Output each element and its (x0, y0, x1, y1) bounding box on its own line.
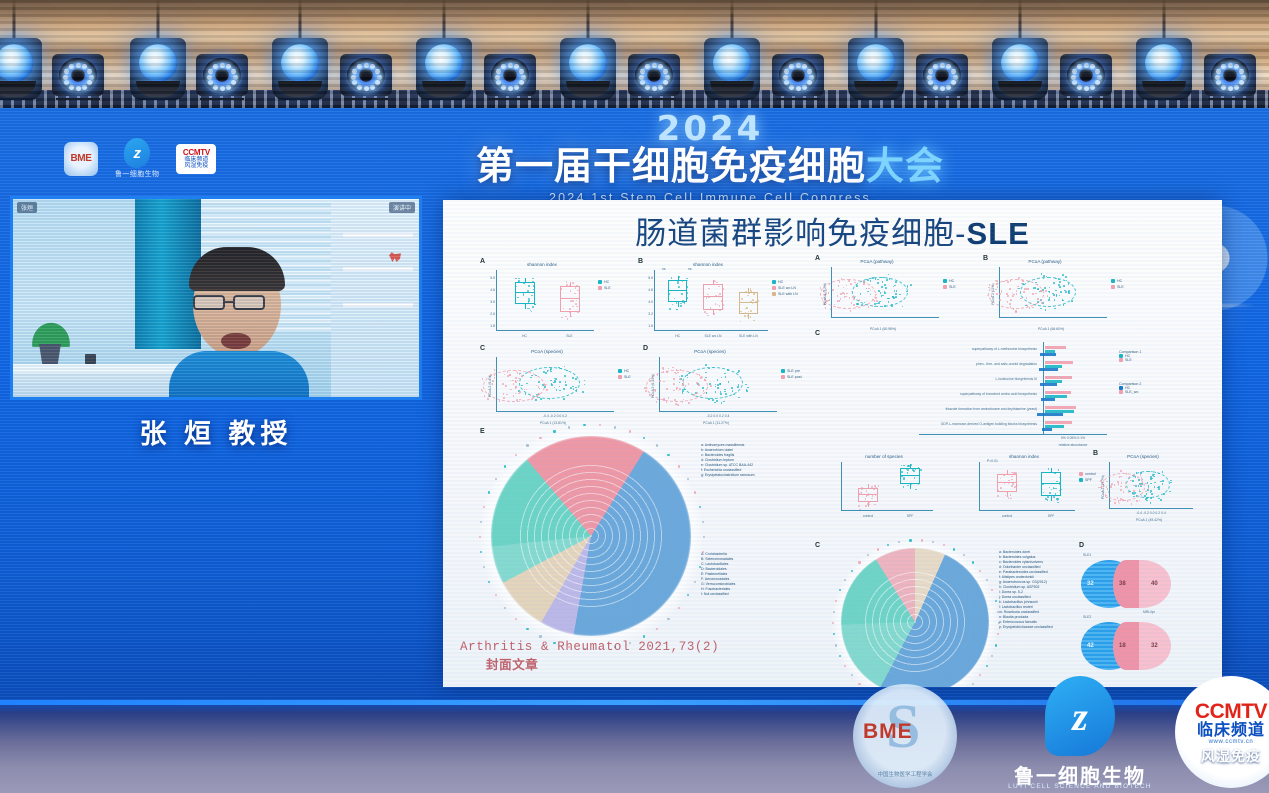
par-led-ring (1211, 58, 1249, 92)
scatter-point-RB (1015, 310, 1017, 312)
scatter-point-RB (1071, 300, 1073, 302)
xticks-C: -0.4 -0.2 0.0 0.2 (496, 414, 614, 418)
scatter-point-RB (1040, 308, 1042, 310)
jitter-point-B (708, 297, 710, 299)
scatter-point-D (710, 385, 712, 387)
cladogram-tip-marker-E (687, 478, 689, 480)
jitter-point-B (678, 286, 680, 288)
jitter-point-B (745, 312, 747, 314)
scatter-point-C (484, 395, 486, 397)
cladogram-tip-marker-E (656, 628, 658, 630)
light-hanging-pole (1019, 0, 1022, 38)
cladogram-tip-marker-E (687, 594, 689, 596)
pathway-bar (1040, 353, 1055, 356)
jitter-point-A (566, 281, 568, 283)
moving-head-lens (1145, 44, 1183, 82)
bme-wordmark: BME (863, 720, 913, 744)
venn-count-right: 32 (1151, 643, 1158, 649)
par-can-body (1060, 54, 1112, 96)
xtick-B-1: SLE wo LN (700, 334, 726, 338)
jitter-point-B (707, 315, 709, 317)
jitter-point-A (567, 318, 569, 320)
xtick-M1-0: control (855, 514, 881, 518)
scatter-point-D (746, 390, 748, 392)
pathway-label: L-isoleucine biosynthesis III (815, 378, 1037, 382)
species-legend-mc: a: Bacteroides doreib: Bacteroides vulga… (999, 550, 1053, 630)
jitter-point-B (671, 277, 673, 279)
jitter-point-B (686, 292, 688, 294)
xtick-M1-1: SPF (897, 514, 923, 518)
par-can-body (772, 54, 824, 96)
panel-label-MC: C (815, 542, 820, 549)
ylabel-RA: PCoA 2 (9.2%) (823, 274, 827, 314)
par-can-body (484, 54, 536, 96)
cladogram-tip-marker-MC (858, 561, 860, 563)
par-led-ring (491, 58, 529, 92)
stage-par-light (484, 52, 536, 100)
panel-label-D: D (643, 345, 648, 352)
moving-head-mouth (566, 81, 610, 97)
jitter-point-M1 (868, 504, 870, 506)
slide-title-sle: SLE (967, 216, 1030, 251)
jitter-point-M2 (1005, 474, 1007, 476)
scatter-point-D (656, 401, 658, 403)
jitter-point-M1 (907, 485, 909, 487)
video-status-tag: 演讲中 (389, 202, 415, 213)
jitter-point-B (669, 308, 671, 310)
scatter-point-RA (868, 306, 870, 308)
header-logo-luyi: z 鲁一细胞生物 (115, 138, 159, 179)
venn-left-label: SLE1 (1083, 553, 1091, 557)
jitter-point-A (528, 301, 530, 303)
light-hanging-pole (1163, 0, 1166, 38)
event-title-cn: 第一届干细胞免疫细胞大会 (430, 148, 990, 188)
jitter-point-M1 (861, 489, 863, 491)
legend-M2-1: SPF (1079, 478, 1092, 482)
cladogram-tip-marker-MC (997, 633, 999, 635)
xticks-RC: 0% 0.05% 0.1% (1013, 436, 1133, 440)
jitter-point-A (569, 308, 571, 310)
venn-count-left: 32 (1087, 581, 1094, 587)
jitter-point-B (672, 304, 674, 306)
jitter-point-M1 (858, 505, 860, 507)
light-hanging-pole (157, 0, 160, 38)
jitter-point-A (531, 311, 533, 313)
panel-label-RB: B (983, 255, 988, 262)
xlabel-D: PCoA 1 (11.27%) (653, 421, 779, 425)
whisker-up-M2-1 (1051, 468, 1052, 472)
jitter-point-M2 (1008, 482, 1010, 484)
par-can-body (916, 54, 968, 96)
scatter-point-C (584, 380, 586, 382)
scatter-point-RB (1065, 276, 1067, 278)
jitter-point-M1 (903, 477, 905, 479)
venn-left-label: SLE2 (1083, 615, 1091, 619)
bme-caption: 中国生物医学工程学会 (853, 770, 957, 778)
pathway-label: superpathway of L-methionine biosynthesi… (815, 348, 1037, 352)
ylabel-MB: PCoA 2 (17.7%) (1101, 467, 1105, 507)
axis-y-A (496, 270, 497, 330)
moving-head-body (0, 38, 42, 100)
legend-B-2: SLE with LN (772, 292, 798, 296)
jitter-point-M2 (1014, 486, 1016, 488)
scatter-point-D (738, 370, 740, 372)
jitter-point-M1 (916, 475, 918, 477)
par-can-body (1204, 54, 1256, 96)
whisker-up-M2-0 (1007, 470, 1008, 474)
moving-head-lens (425, 44, 463, 82)
footer-logo-row: S BME 中国生物医学工程学会 z 鲁一细胞生物 LUYI CELL SCIE… (845, 668, 1269, 793)
scatter-point-RB (1045, 290, 1047, 292)
jitter-point-B (681, 293, 683, 295)
jitter-point-B (715, 295, 717, 297)
par-yoke (488, 91, 532, 100)
cladogram-tip-marker-E (526, 444, 528, 446)
legend-item: SLE (1119, 358, 1141, 362)
scatter-point-RB (1041, 273, 1043, 275)
cladogram-tip-marker-MC (991, 655, 993, 657)
jitter-point-M2 (1000, 487, 1002, 489)
scatter-point-D (705, 364, 707, 366)
species-legend-item: p: Erysipelotrichaceae unclassified (999, 625, 1053, 630)
jitter-point-M2 (1008, 480, 1010, 482)
whisker-dn-A-0 (525, 304, 526, 309)
cladogram-tip-marker-MC (986, 579, 988, 581)
jitter-point-M1 (875, 487, 877, 489)
scatter-point-C (563, 398, 565, 400)
xticks-D: -0.2 0.0 0.2 0.4 (659, 414, 777, 418)
legend-D-1: SLE post (781, 375, 802, 379)
scatter-point-MB (1098, 487, 1100, 489)
moving-head-mouth (1142, 81, 1186, 97)
scatter-point-C (482, 390, 484, 392)
pathway-label: phen...thre- and salic-uronid degradatio… (815, 363, 1037, 367)
par-can-body (628, 54, 680, 96)
jitter-point-B (744, 315, 746, 317)
scatter-point-D (666, 401, 668, 403)
legend-A-1: SLE (598, 286, 611, 290)
jitter-point-M1 (911, 484, 913, 486)
cladogram-tip-marker-MC (972, 561, 974, 563)
par-can-body (196, 54, 248, 96)
jitter-point-M1 (903, 486, 905, 488)
jitter-point-A (572, 300, 574, 302)
scatter-point-D (712, 399, 714, 401)
video-background: 张烜 演讲中 (13, 199, 419, 397)
jitter-point-A (570, 316, 572, 318)
luyi-drop-icon: z (124, 138, 150, 168)
scatter-point-D (672, 367, 674, 369)
ccmtv-brand-mini: CCMTV (183, 149, 210, 157)
legend-RB-1: SLE (1111, 285, 1124, 289)
jitter-point-A (575, 303, 577, 305)
jitter-point-M1 (903, 465, 905, 467)
header-logo-ccmtv: CCMTV 临床频道 风湿免疫 (176, 144, 216, 174)
bme-icon: BME (64, 142, 98, 176)
jitter-point-A (574, 293, 576, 295)
boxplot-A-0 (515, 282, 535, 304)
jitter-point-A (532, 306, 534, 308)
panel-title-RB: PCoA (pathway) (991, 259, 1099, 264)
jitter-point-M1 (866, 495, 868, 497)
scatter-point-C (582, 391, 584, 393)
scatter-point-D (747, 387, 749, 389)
axis-x-M1 (841, 510, 933, 511)
moving-head-lens (713, 44, 751, 82)
header-logo-luyi-caption: 鲁一细胞生物 (115, 169, 159, 179)
jitter-point-M1 (913, 470, 915, 472)
luyi-droplet-icon: z (1045, 676, 1115, 756)
jitter-point-M1 (861, 493, 863, 495)
scatter-point-C (564, 366, 566, 368)
legend-M2-0: control (1079, 472, 1096, 476)
whisker-up-B-2 (748, 288, 749, 292)
cladogram-tip-marker-E (694, 491, 696, 493)
ytick-A: 5.54.63.62.61.8 (479, 272, 495, 332)
legend-C-1: SLE (618, 375, 631, 379)
jitter-point-B (686, 297, 688, 299)
scatter-point-MB (1139, 500, 1141, 502)
stage-par-light (1060, 52, 1112, 100)
par-yoke (1064, 91, 1108, 100)
jitter-point-A (518, 280, 520, 282)
jitter-point-M1 (903, 468, 905, 470)
panel-label-A: A (480, 258, 485, 265)
ellipse-C-1 (483, 370, 544, 402)
par-led-dots (628, 52, 680, 100)
jitter-point-B (753, 320, 755, 322)
par-yoke (56, 91, 100, 100)
scatter-point-D (716, 400, 718, 402)
jitter-point-A (528, 285, 530, 287)
venn-count-right: 40 (1151, 581, 1158, 587)
stage-par-light (340, 52, 392, 100)
cladogram-tip-marker-MC (991, 589, 993, 591)
jitter-point-B (740, 321, 742, 323)
jitter-point-M1 (901, 471, 903, 473)
panel-label-E: E (480, 428, 485, 435)
scatter-point-MB (1169, 491, 1171, 493)
stage-moving-head-light (416, 38, 472, 100)
jitter-point-M1 (911, 464, 913, 466)
cladogram-tip-marker-E (539, 437, 541, 439)
jitter-point-A (569, 285, 571, 287)
ellipse-RA-1 (820, 279, 876, 309)
jitter-point-M2 (997, 495, 999, 497)
par-yoke (200, 91, 244, 100)
xtick-B-2: SLE with LN (735, 334, 761, 338)
jitter-point-M2 (1005, 495, 1007, 497)
jitter-point-B (750, 316, 752, 318)
jitter-point-A (576, 306, 578, 308)
event-title-accent: 大会 (866, 146, 944, 188)
jitter-point-M1 (873, 488, 875, 490)
xtick-M2-0: control (994, 514, 1020, 518)
jitter-point-A (523, 282, 525, 284)
median-M2-1 (1041, 483, 1061, 484)
footer-logo-bme: S BME 中国生物医学工程学会 (853, 684, 957, 788)
par-yoke (776, 91, 820, 100)
moving-head-mouth (710, 81, 754, 97)
lighting-truss (0, 90, 1269, 108)
jitter-point-M2 (1047, 496, 1049, 498)
jitter-point-B (680, 305, 682, 307)
venn-overlap (1113, 622, 1139, 670)
jitter-point-M2 (1058, 469, 1060, 471)
jitter-point-B (750, 310, 752, 312)
scatter-point-MB (1140, 497, 1142, 499)
jitter-point-A (561, 317, 563, 319)
jitter-point-A (566, 284, 568, 286)
panel-title-M2: shannon index (969, 454, 1079, 459)
panel-label-B: B (638, 258, 643, 265)
cladogram-tip-marker-MC (851, 570, 853, 572)
legend-D-0: SLE pre (781, 369, 800, 373)
scatter-point-RB (1045, 309, 1047, 311)
header-logo-bme: BME (64, 142, 98, 176)
scatter-point-MB (1170, 480, 1172, 482)
par-yoke (344, 91, 388, 100)
light-hanging-pole (443, 0, 446, 38)
panel-title-M1: number of species (831, 454, 937, 459)
luyi-name-en: LUYI CELL SCIENCE AND BIOTECH (995, 783, 1165, 790)
ellipse-D-1 (646, 370, 707, 402)
video-scanline-overlay (13, 199, 419, 397)
cladogram-tip-marker-E (656, 444, 658, 446)
pathway-label: superpathway of branched amino acid bios… (815, 393, 1037, 397)
cladogram-tip-marker-E (702, 521, 704, 523)
panel-title-D: PCoA (species) (651, 349, 769, 354)
venn-count-center: 38 (1119, 581, 1126, 587)
par-led-dots (1204, 52, 1256, 100)
scatter-point-RA (875, 297, 877, 299)
jitter-point-M1 (907, 465, 909, 467)
panel-label-RC: C (815, 330, 820, 337)
species-legend-top: a: Actinomyces massiliensisb: Anaerobium… (701, 443, 755, 478)
moving-head-lens (569, 44, 607, 82)
scatter-point-D (721, 402, 723, 404)
moving-head-body (704, 38, 760, 100)
par-led-dots (1060, 52, 1112, 100)
ylabel-D: PCoA 2 (6.33%) (651, 366, 655, 406)
light-hanging-pole (299, 0, 302, 38)
scatter-point-D (745, 384, 747, 386)
stage-moving-head-light (1136, 38, 1192, 100)
stage-par-light (52, 52, 104, 100)
jitter-point-M1 (907, 469, 909, 471)
legend-RA-1: SLE (943, 285, 956, 289)
cladogram-MC (841, 548, 989, 687)
pathway-bar (1039, 368, 1058, 371)
jitter-point-A (577, 311, 579, 313)
jitter-point-M2 (1048, 468, 1050, 470)
xlabel-RC: relative abundance (1003, 443, 1143, 447)
par-led-ring (347, 58, 385, 92)
venn-overlap (1113, 560, 1139, 608)
cladogram-tip-marker-E (629, 430, 631, 432)
jitter-point-M1 (872, 495, 874, 497)
jitter-point-M2 (1057, 502, 1059, 504)
scatter-point-MB (1150, 502, 1152, 504)
presentation-slide: 肠道菌群影响免疫细胞-SLE Ashannon indexHCSLEHCSLE5… (443, 200, 1222, 687)
xtick-A-1: SLE (557, 334, 583, 338)
moving-head-mouth (278, 81, 322, 97)
par-can-body (52, 54, 104, 96)
jitter-point-M1 (868, 501, 870, 503)
scatter-point-C (482, 378, 484, 380)
jitter-point-M1 (878, 485, 880, 487)
axis-y-M2 (979, 462, 980, 510)
whisker-dn-B-0 (678, 302, 679, 307)
jitter-point-A (572, 306, 574, 308)
cladogram-tip-marker-MC (995, 644, 997, 646)
jitter-point-M2 (1010, 494, 1012, 496)
par-led-ring (203, 58, 241, 92)
xlabel-RA: PCoA 1 (60.98%) (825, 327, 941, 331)
legend-item: SLE_wo (1119, 390, 1141, 394)
jitter-point-M2 (1042, 483, 1044, 485)
moving-head-lens (0, 44, 33, 82)
scatter-point-D (668, 368, 670, 370)
stage-moving-head-light (272, 38, 328, 100)
speaker-video-feed[interactable]: 张烜 演讲中 (10, 196, 422, 400)
cladogram-halo (479, 424, 703, 648)
light-hanging-pole (731, 0, 734, 38)
scatter-point-MB (1131, 503, 1133, 505)
scatter-point-C (549, 399, 551, 401)
species-legend-bottom: A: CoriobacteriiaB: SelenomonadalesC: La… (701, 552, 735, 597)
par-led-dots (52, 52, 104, 100)
scatter-point-MB (1110, 500, 1112, 502)
moving-head-mouth (0, 81, 36, 97)
axis-x-RA (831, 317, 939, 318)
cladogram-tip-marker-E (699, 506, 701, 508)
scatter-point-RA (907, 285, 909, 287)
cladogram-tip-marker-E (504, 465, 506, 467)
cladogram-tip-marker-MC (921, 539, 923, 541)
axis-x-A (496, 330, 594, 331)
jitter-point-M2 (1053, 496, 1055, 498)
scatter-point-MB (1146, 500, 1148, 502)
stage-moving-head-light (560, 38, 616, 100)
stage-moving-head-light (704, 38, 760, 100)
axis-x-M2 (979, 510, 1075, 511)
ceiling-backdrop (0, 0, 1269, 108)
xtick-A-0: HC (512, 334, 538, 338)
jitter-point-A (532, 281, 534, 283)
venn-right-label: MRL/lpr (1143, 610, 1155, 614)
ccmtv-department: 风湿免疫 (1201, 749, 1261, 764)
light-hanging-pole (875, 0, 878, 38)
video-name-tag: 张烜 (17, 202, 37, 213)
xticks-MB: -0.4 -0.2 0.0 0.2 0.4 (1109, 511, 1193, 515)
jitter-point-A (527, 290, 529, 292)
jitter-point-B (716, 282, 718, 284)
scatter-point-MB (1136, 500, 1138, 502)
pathway-bar (1042, 428, 1052, 431)
ccmtv-brand: CCMTV (1195, 701, 1267, 723)
jitter-point-M2 (1011, 485, 1013, 487)
ccmtv-dept-mini: 风湿免疫 (184, 163, 208, 169)
stage-moving-head-light (130, 38, 186, 100)
jitter-point-M1 (920, 469, 922, 471)
jitter-point-A (565, 316, 567, 318)
moving-head-lens (1001, 44, 1039, 82)
jitter-point-A (518, 278, 520, 280)
jitter-point-M2 (1010, 498, 1012, 500)
jitter-point-M1 (859, 509, 861, 511)
cladogram-tip-marker-MC (833, 611, 835, 613)
